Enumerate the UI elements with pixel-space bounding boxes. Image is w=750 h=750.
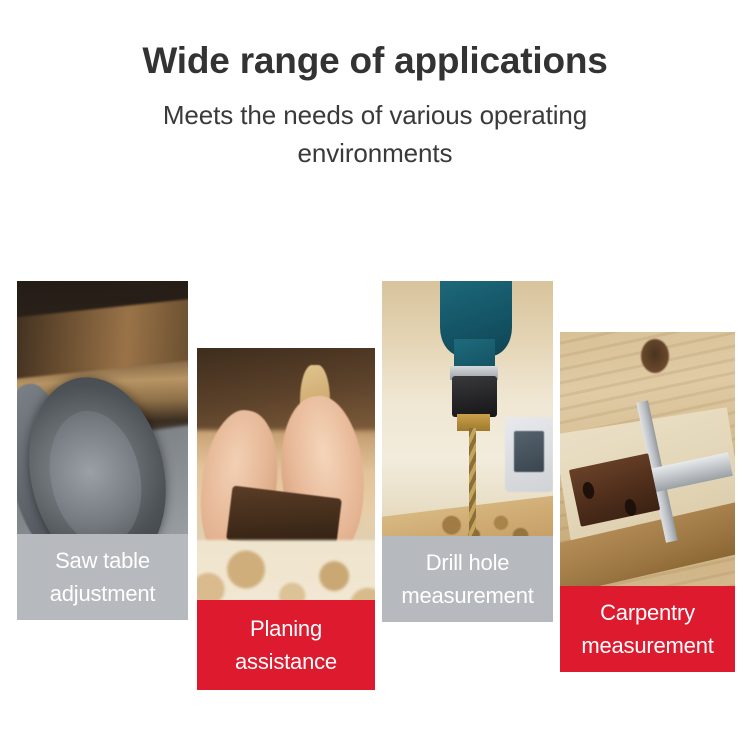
caption-line-2: measurement (581, 629, 713, 662)
page-title: Wide range of applications (0, 0, 750, 84)
caption-line-2: measurement (401, 579, 533, 612)
caption-carpentry-measurement: Carpentry measurement (560, 586, 735, 672)
subtitle-line-1: Meets the needs of various operating (0, 96, 750, 134)
caption-planing-assistance: Planing assistance (197, 600, 375, 690)
page-subtitle: Meets the needs of various operating env… (0, 84, 750, 172)
caption-line-1: Planing (250, 612, 322, 645)
panel-saw-table-adjustment[interactable]: Saw table adjustment (17, 281, 188, 620)
panel-carpentry-measurement[interactable]: Carpentry measurement (560, 332, 735, 672)
application-page: Wide range of applications Meets the nee… (0, 0, 750, 750)
subtitle-line-2: environments (0, 134, 750, 172)
caption-drill-hole-measurement: Drill hole measurement (382, 536, 553, 622)
caption-saw-table-adjustment: Saw table adjustment (17, 534, 188, 620)
caption-line-1: Carpentry (600, 596, 695, 629)
caption-line-1: Saw table (55, 544, 150, 577)
header-block: Wide range of applications Meets the nee… (0, 0, 750, 172)
caption-line-2: assistance (235, 645, 337, 678)
panel-planing-assistance[interactable]: Planing assistance (197, 348, 375, 690)
caption-line-2: adjustment (50, 577, 156, 610)
panel-drill-hole-measurement[interactable]: Drill hole measurement (382, 281, 553, 622)
caption-line-1: Drill hole (426, 546, 510, 579)
